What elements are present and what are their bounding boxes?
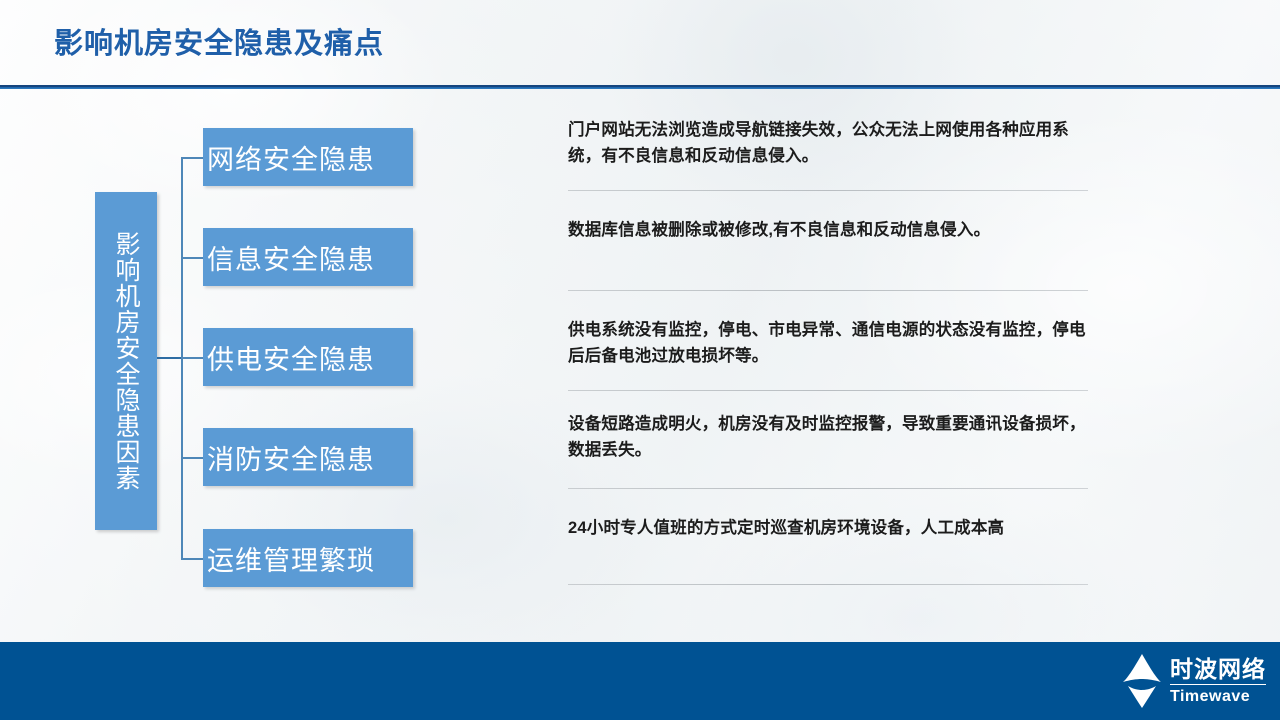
logo-text-group: 时波网络 Timewave <box>1170 658 1266 705</box>
description-divider-3 <box>568 390 1088 391</box>
root-category-box: 影响机房安全隐患因素 <box>95 192 157 530</box>
slide-canvas: 影响机房安全隐患及痛点 影响机房安全隐患因素 网络安全隐患 信息安全隐患 供电安… <box>0 0 1280 720</box>
hazard-box-operations-label: 运维管理繁琐 <box>207 539 375 578</box>
description-divider-1 <box>568 190 1088 191</box>
connector-root-stub <box>157 357 183 359</box>
description-row-fire: 设备短路造成明火，机房没有及时监控报警，导致重要通讯设备损坏，数据丢失。 <box>568 396 1088 494</box>
description-divider-5 <box>568 584 1088 585</box>
company-logo: 时波网络 Timewave <box>1120 650 1266 712</box>
hazard-box-power-label: 供电安全隐患 <box>207 338 375 377</box>
logo-name-en: Timewave <box>1170 685 1266 705</box>
title-divider <box>0 85 1280 89</box>
connector-branch-5 <box>181 558 203 560</box>
hazard-box-fire-label: 消防安全隐患 <box>207 438 375 477</box>
hazard-box-operations[interactable]: 运维管理繁琐 <box>203 529 413 587</box>
hazard-box-network-label: 网络安全隐患 <box>207 138 375 177</box>
connector-branch-2 <box>181 257 203 259</box>
connector-branch-1 <box>181 157 203 159</box>
hazard-box-network[interactable]: 网络安全隐患 <box>203 128 413 186</box>
connector-branch-3 <box>181 357 203 359</box>
hazard-box-fire[interactable]: 消防安全隐患 <box>203 428 413 486</box>
description-text-fire: 设备短路造成明火，机房没有及时监控报警，导致重要通讯设备损坏，数据丢失。 <box>568 412 1088 463</box>
description-row-power: 供电系统没有监控，停电、市电异常、通信电源的状态没有监控，停电后后备电池过放电损… <box>568 296 1088 396</box>
description-text-information: 数据库信息被删除或被修改,有不良信息和反动信息侵入。 <box>568 218 1088 244</box>
description-divider-2 <box>568 290 1088 291</box>
logo-name-cn: 时波网络 <box>1170 658 1266 685</box>
footer-bar <box>0 642 1280 720</box>
description-row-information: 数据库信息被删除或被修改,有不良信息和反动信息侵入。 <box>568 196 1088 296</box>
hazard-box-information[interactable]: 信息安全隐患 <box>203 228 413 286</box>
description-text-network: 门户网站无法浏览造成导航链接失效，公众无法上网使用各种应用系统，有不良信息和反动… <box>568 118 1088 169</box>
description-row-operations: 24小时专人值班的方式定时巡查机房环境设备，人工成本高 <box>568 494 1088 590</box>
hazard-box-information-label: 信息安全隐患 <box>207 238 375 277</box>
wave-mark-icon <box>1120 652 1164 710</box>
description-text-operations: 24小时专人值班的方式定时巡查机房环境设备，人工成本高 <box>568 516 1088 542</box>
hazard-box-power[interactable]: 供电安全隐患 <box>203 328 413 386</box>
root-category-label: 影响机房安全隐患因素 <box>110 231 142 491</box>
description-row-network: 门户网站无法浏览造成导航链接失效，公众无法上网使用各种应用系统，有不良信息和反动… <box>568 118 1088 196</box>
page-title: 影响机房安全隐患及痛点 <box>54 20 384 62</box>
description-column: 门户网站无法浏览造成导航链接失效，公众无法上网使用各种应用系统，有不良信息和反动… <box>568 118 1088 590</box>
description-text-power: 供电系统没有监控，停电、市电异常、通信电源的状态没有监控，停电后后备电池过放电损… <box>568 318 1088 369</box>
description-divider-4 <box>568 488 1088 489</box>
connector-branch-4 <box>181 457 203 459</box>
